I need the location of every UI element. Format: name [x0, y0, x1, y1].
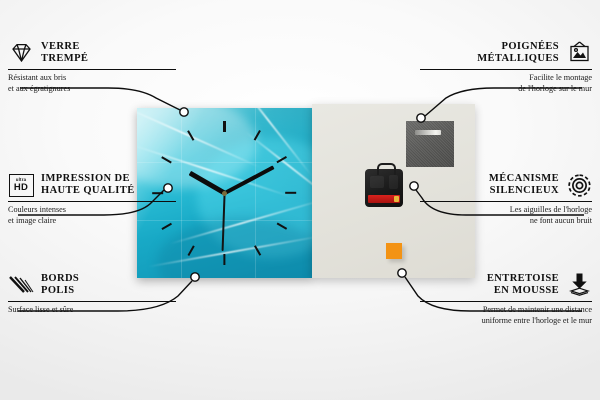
hour-marker: [162, 156, 173, 164]
feature-title: POIGNÉESMÉTALLIQUES: [477, 41, 559, 66]
feature-header: ultra HD IMPRESSION DEHAUTE QUALITÉ: [8, 172, 176, 198]
minute-hand: [224, 165, 274, 194]
clock-mechanism-box: [365, 169, 403, 207]
metal-hanger-plate: [406, 121, 454, 167]
hour-marker: [187, 245, 195, 256]
polished-edges-icon: [8, 272, 34, 298]
hour-marker: [254, 130, 262, 141]
foam-spacer: [386, 243, 402, 259]
wall-mount-frame-icon: [566, 40, 592, 66]
second-hand: [222, 193, 226, 251]
feature-verre-trempe: VERRETREMPÉ Résistant aux briset aux égr…: [8, 40, 176, 95]
hour-marker: [277, 222, 288, 230]
feature-header: ENTRETOISEEN MOUSSE: [420, 272, 592, 298]
feature-description: Résistant aux briset aux égratignures: [8, 73, 176, 95]
hour-marker: [223, 121, 225, 132]
feature-divider: [420, 69, 592, 70]
diamond-icon: [8, 40, 34, 66]
hour-marker: [277, 156, 288, 164]
hour-hand: [189, 171, 226, 195]
feature-title: ENTRETOISEEN MOUSSE: [487, 273, 559, 298]
feature-poignees-metalliques: POIGNÉESMÉTALLIQUES Facilite le montaged…: [420, 40, 592, 95]
feature-description: Les aiguilles de l'horlogene font aucun …: [420, 205, 592, 227]
feature-description: Permet de maintenir une distanceuniforme…: [420, 305, 592, 327]
feature-mecanisme-silencieux: MÉCANISMESILENCIEUX Les aiguilles de l'h…: [420, 172, 592, 227]
foam-spacer-icon: [566, 272, 592, 298]
feature-impression-haute-qualite: ultra HD IMPRESSION DEHAUTE QUALITÉ Coul…: [8, 172, 176, 227]
feature-title: VERRETREMPÉ: [41, 41, 88, 66]
mechanism-hanger-loop: [377, 163, 396, 175]
feature-description: Facilite le montagede l'horloge sur le m…: [420, 73, 592, 95]
feature-header: BORDSPOLIS: [8, 272, 176, 298]
hour-marker: [223, 254, 225, 265]
hour-marker: [187, 130, 195, 141]
hand-center-cap: [222, 191, 227, 196]
ultra-hd-icon: ultra HD: [8, 172, 34, 198]
feature-header: MÉCANISMESILENCIEUX: [420, 172, 592, 198]
feature-title: BORDSPOLIS: [41, 273, 79, 298]
feature-divider: [8, 69, 176, 70]
feature-divider: [420, 201, 592, 202]
mechanism-detail: [370, 176, 384, 188]
hour-marker: [254, 245, 262, 256]
feature-header: POIGNÉESMÉTALLIQUES: [420, 40, 592, 66]
battery-terminal: [394, 196, 399, 202]
feature-header: VERRETREMPÉ: [8, 40, 176, 66]
gear-icon: [566, 172, 592, 198]
hour-marker: [286, 192, 297, 194]
infographic-canvas: VERRETREMPÉ Résistant aux briset aux égr…: [0, 0, 600, 400]
feature-description: Couleurs intenseset image claire: [8, 205, 176, 227]
ultra-hd-large-label: HD: [14, 183, 28, 193]
feature-description: Surface lisse et sûre: [8, 305, 176, 316]
hanger-keyhole-slot: [415, 130, 441, 135]
battery: [368, 195, 400, 203]
mechanism-detail: [389, 175, 398, 189]
feature-bords-polis: BORDSPOLIS Surface lisse et sûre: [8, 272, 176, 316]
feature-entretoise-en-mousse: ENTRETOISEEN MOUSSE Permet de maintenir …: [420, 272, 592, 327]
feature-divider: [8, 301, 176, 302]
feature-title: MÉCANISMESILENCIEUX: [489, 173, 559, 198]
feature-divider: [420, 301, 592, 302]
feature-title: IMPRESSION DEHAUTE QUALITÉ: [41, 173, 135, 198]
feature-divider: [8, 201, 176, 202]
